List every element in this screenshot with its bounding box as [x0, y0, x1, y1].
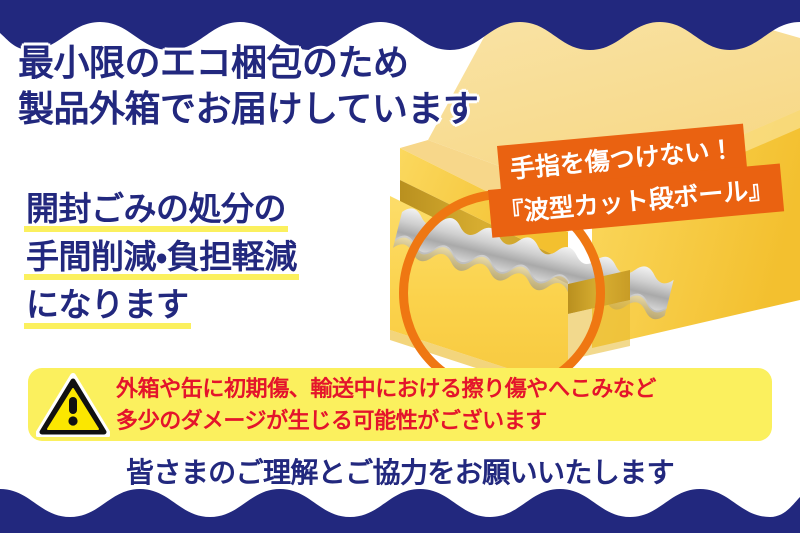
- submessage-line-2-text: 手間削減・負担軽減: [26, 233, 297, 281]
- submessage-line-3: になります: [26, 281, 426, 329]
- headline-line-2: 製品外箱でお届けしています: [18, 86, 538, 132]
- submessage-line-2: 手間削減・負担軽減: [26, 233, 426, 281]
- promo-banner: 最小限のエコ梱包のため 製品外箱でお届けしています 開封ごみの処分の 手間削減・…: [0, 0, 800, 533]
- warning-triangle-icon: [36, 373, 110, 437]
- submessage-block: 開封ごみの処分の 手間削減・負担軽減 になります: [26, 185, 426, 330]
- warning-line-2: 多少のダメージが生じる可能性がございます: [116, 405, 772, 436]
- submessage-line-1-text: 開封ごみの処分の: [26, 185, 286, 233]
- headline-block: 最小限のエコ梱包のため 製品外箱でお届けしています: [18, 40, 538, 132]
- warning-panel: 外箱や缶に初期傷、輸送中における擦り傷やへこみなど 多少のダメージが生じる可能性…: [28, 368, 772, 441]
- submessage-line-3-text: になります: [26, 281, 189, 329]
- warning-line-1: 外箱や缶に初期傷、輸送中における擦り傷やへこみなど: [116, 373, 772, 404]
- warning-text-block: 外箱や缶に初期傷、輸送中における擦り傷やへこみなど 多少のダメージが生じる可能性…: [116, 373, 772, 435]
- headline-line-1: 最小限のエコ梱包のため: [18, 40, 538, 86]
- submessage-line-1: 開封ごみの処分の: [26, 185, 426, 233]
- closing-message: 皆さまのご理解とご協力をお願いいたします: [0, 451, 800, 491]
